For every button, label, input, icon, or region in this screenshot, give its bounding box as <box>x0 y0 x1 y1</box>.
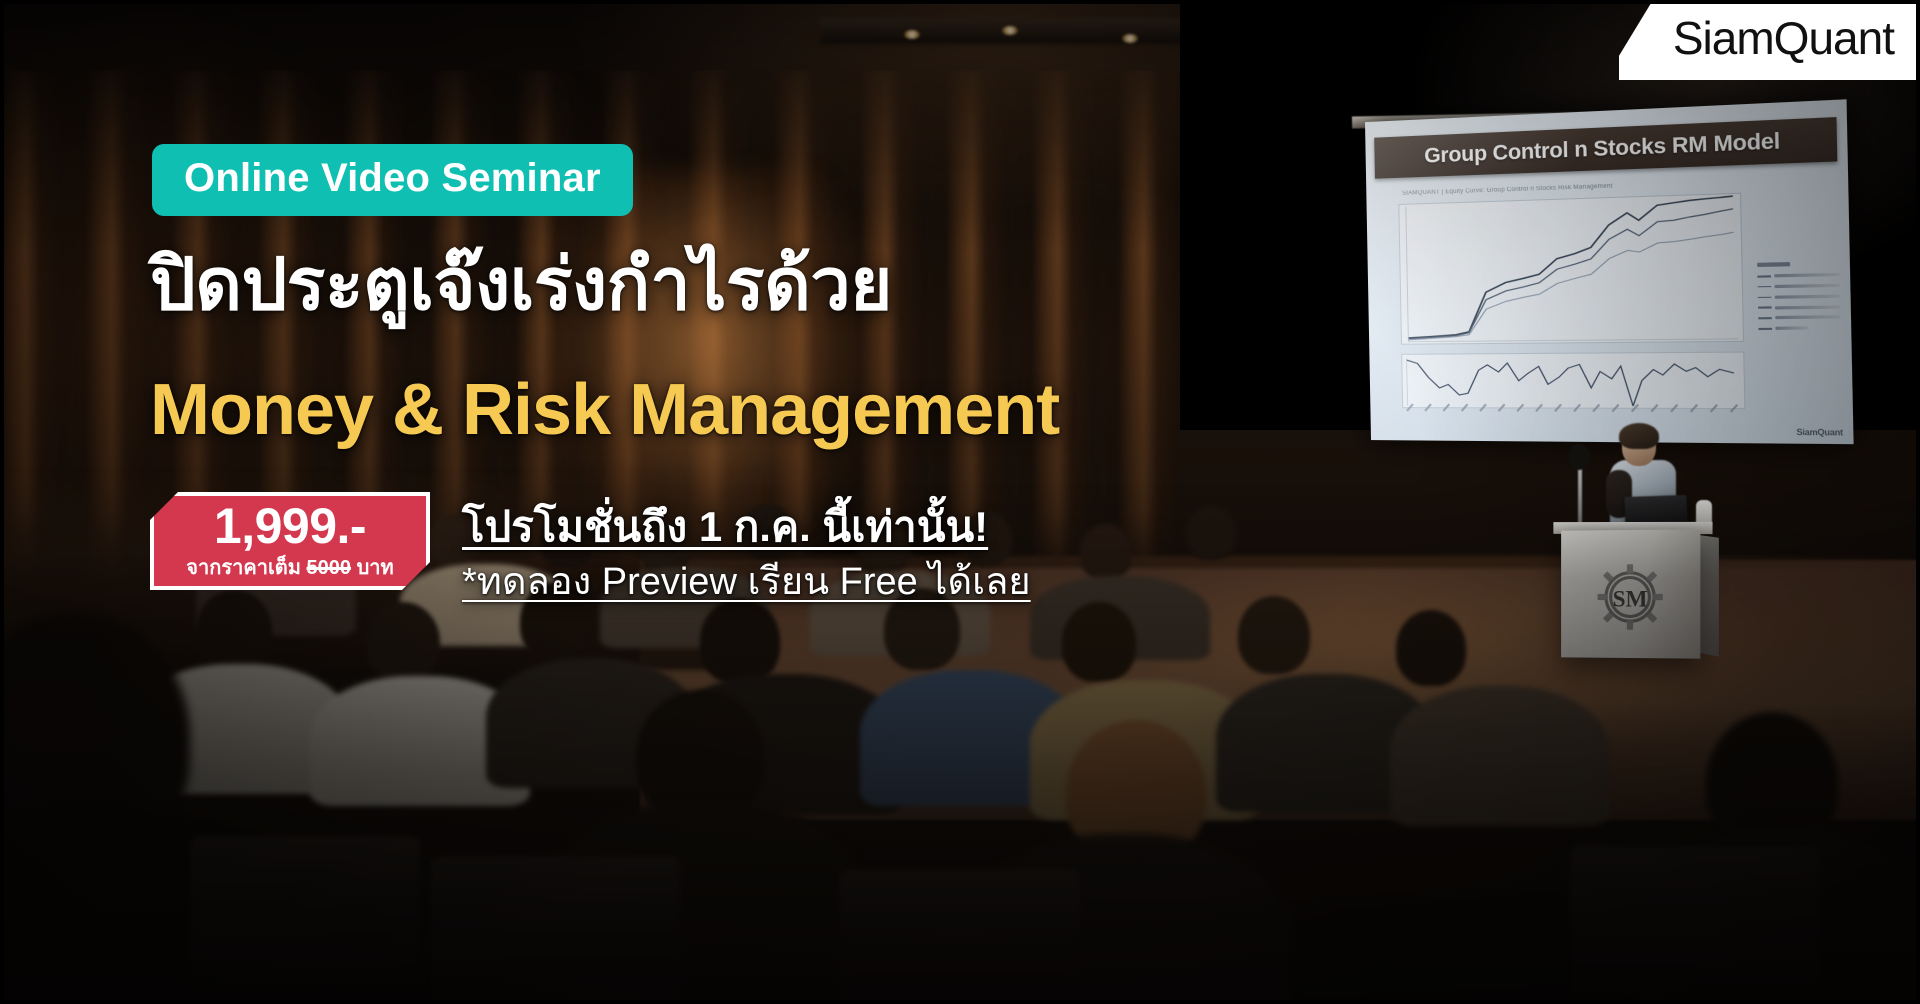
brand-logo: SiamQuant <box>1619 0 1920 80</box>
brand-name: SiamQuant <box>1673 15 1894 61</box>
headline-english: Money & Risk Management <box>150 374 1059 446</box>
price-from-label: จากราคาเต็ม <box>186 557 306 579</box>
price-original-amount: 5000 <box>307 557 352 579</box>
promo-preview-text: *ทดลอง Preview เรียน Free ได้เลย <box>462 550 1031 611</box>
headline-thai: ปิดประตูเจ๊งเร่งกำไรด้วย <box>150 248 892 323</box>
price-currency-unit: บาท <box>351 557 394 579</box>
price-amount: 1,999.- <box>214 501 366 551</box>
price-tag: 1,999.- จากราคาเต็ม 5000 บาท <box>150 492 430 590</box>
seminar-type-badge: Online Video Seminar <box>152 144 633 216</box>
seminar-banner: Group Control n Stocks RM Model SIAMQUAN… <box>0 0 1920 1004</box>
marketing-overlay: Online Video Seminar ปิดประตูเจ๊งเร่งกำไ… <box>0 0 1920 1004</box>
price-original-line: จากราคาเต็ม 5000 บาท <box>186 558 393 578</box>
